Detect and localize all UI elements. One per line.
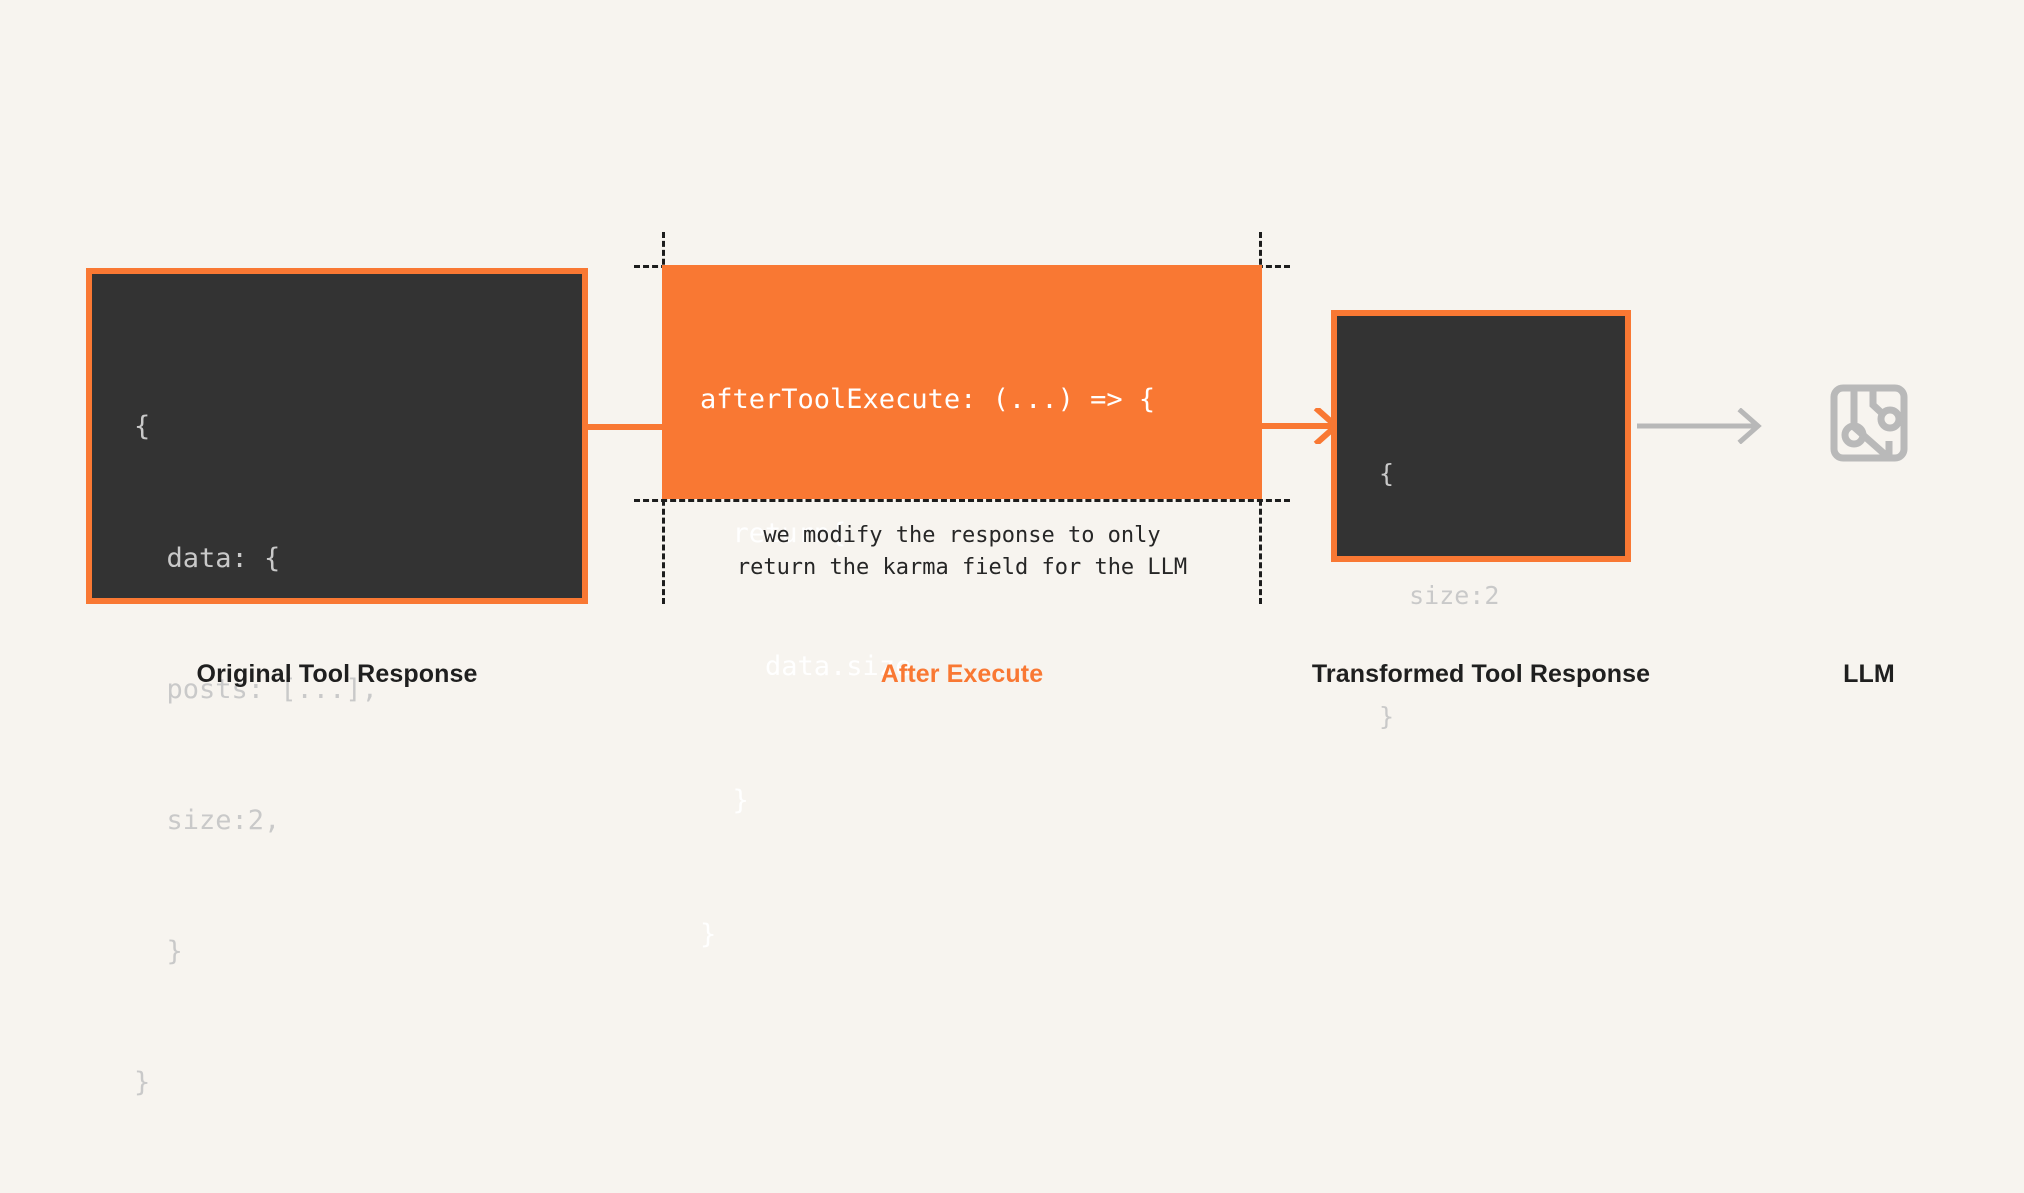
arrow-right-icon: [1262, 408, 1338, 444]
caption-original-tool-response: Original Tool Response: [86, 660, 588, 689]
code-line: size:2,: [134, 799, 582, 843]
after-execute-code-box: afterToolExecute: (...) => { return{ dat…: [662, 265, 1262, 499]
after-execute-note: we modify the response to only return th…: [662, 499, 1262, 604]
caption-llm: LLM: [1789, 660, 1949, 689]
code-line: }: [1379, 697, 1625, 738]
code-line: }: [134, 930, 582, 974]
after-execute-group: afterToolExecute: (...) => { return{ dat…: [662, 232, 1262, 604]
code-line: {: [134, 405, 582, 449]
caption-transformed-tool-response: Transformed Tool Response: [1231, 660, 1731, 689]
connector-transformed-to-llm: [1637, 408, 1763, 444]
code-line: size:2: [1379, 576, 1625, 617]
original-tool-response-box: { data: { posts: [...], size:2, } }: [86, 268, 588, 604]
connector-after-to-transformed: [1262, 408, 1338, 444]
code-line: }: [134, 1061, 582, 1105]
diagram-canvas: { data: { posts: [...], size:2, } } afte…: [0, 0, 2024, 938]
code-line: data: {: [134, 537, 582, 581]
code-line: afterToolExecute: (...) => {: [700, 378, 1262, 423]
code-line: }: [700, 913, 1262, 958]
caption-after-execute: After Execute: [662, 660, 1262, 689]
transformed-tool-response-box: { size:2 }: [1331, 310, 1631, 562]
chip-circuit-icon: [1829, 383, 1909, 463]
code-line: {: [1379, 454, 1625, 495]
arrow-right-icon: [1637, 408, 1763, 444]
connector-original-to-after: [588, 424, 668, 430]
llm-chip: [1829, 383, 1909, 463]
after-execute-note-line-2: return the karma field for the LLM: [737, 552, 1187, 583]
after-execute-note-line-1: we modify the response to only: [763, 520, 1160, 551]
code-line: }: [700, 779, 1262, 824]
